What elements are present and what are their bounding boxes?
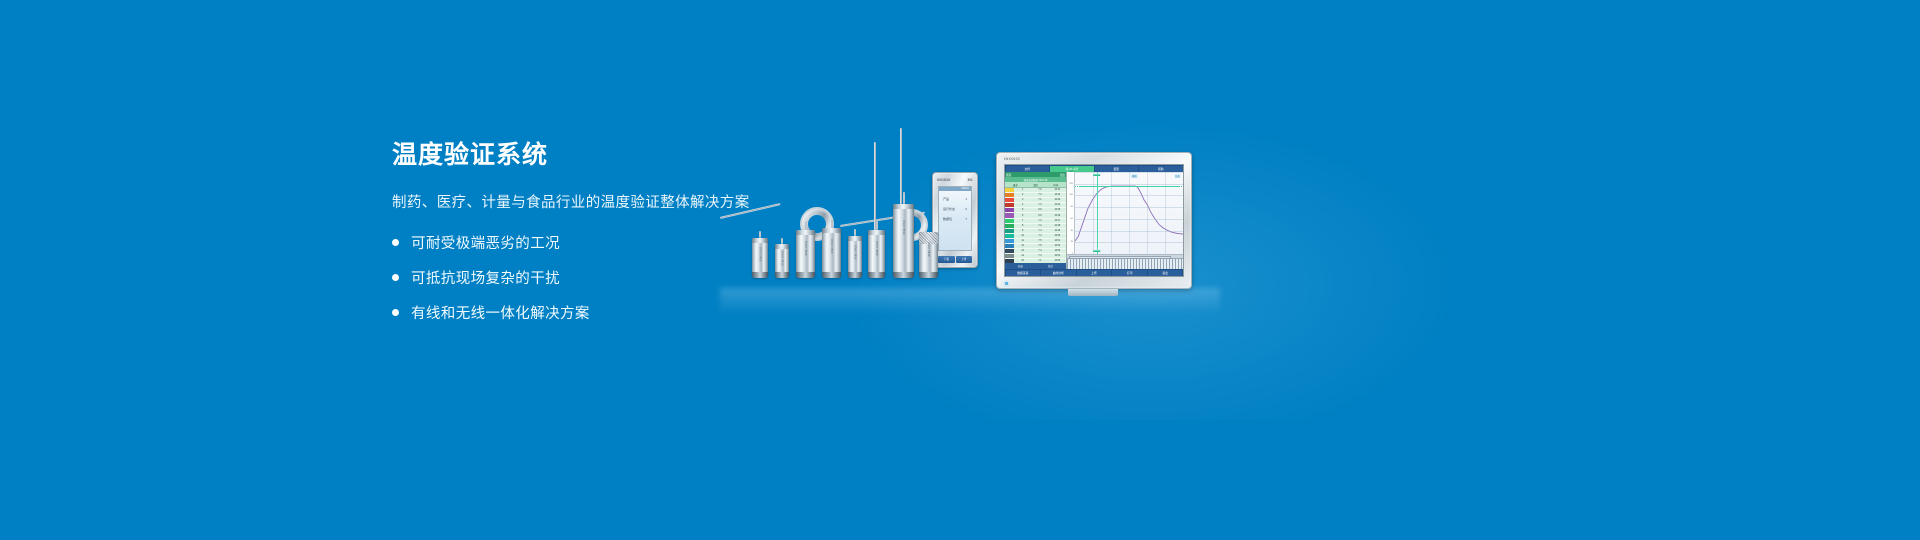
- app-body: 通道 温度 通道温度数据 2021-05 通道温度时间 17.610:4127.…: [1005, 172, 1183, 269]
- cell-channel: 7: [1014, 220, 1031, 222]
- series-color-swatch: [1005, 188, 1014, 192]
- feature-bullet-label: 有线和无线一体化解决方案: [411, 302, 590, 323]
- y-axis-tick-label: 20: [1071, 241, 1073, 243]
- monitor-screen: 文件线-01-A列报警帮助 通道 温度 通道温度数据 2021-05 通道温度时…: [1004, 164, 1184, 277]
- logger-label: ONIX 0806: [759, 247, 762, 262]
- data-logger-2: ONIX 0812: [775, 238, 789, 278]
- cell-channel: 9: [1014, 230, 1031, 232]
- limit-line-handle[interactable]: [1076, 185, 1079, 188]
- cell-value: 7.2: [1031, 220, 1048, 222]
- cell-value: 7.4: [1031, 230, 1048, 232]
- chart-horizontal-scrollbar[interactable]: [1067, 254, 1183, 258]
- cell-value: 7.3: [1031, 255, 1048, 257]
- cell-time: 10:41: [1049, 189, 1066, 191]
- data-column-header: 温度: [1025, 182, 1045, 187]
- cell-channel: 12: [1014, 245, 1031, 247]
- cell-value: 7.2: [1031, 225, 1048, 227]
- logger-cap: [752, 238, 768, 243]
- series-color-swatch: [1005, 193, 1014, 197]
- data-logger-4: ONIX 0824: [822, 219, 841, 278]
- feature-bullet-label: 可耐受极端恶劣的工况: [411, 232, 560, 253]
- cell-time: 10:49: [1049, 230, 1066, 232]
- cursor-line[interactable]: [1097, 172, 1098, 254]
- cell-time: 10:45: [1049, 209, 1066, 211]
- series-color-swatch: [1005, 213, 1014, 217]
- cell-value: 7.1: [1031, 199, 1048, 201]
- cell-time: 10:42: [1049, 194, 1066, 196]
- logger-label: ONIX 0830: [854, 245, 857, 260]
- series-color-swatch: [1005, 244, 1014, 248]
- app-top-toolbar[interactable]: 文件线-01-A列报警帮助: [1005, 165, 1183, 172]
- logger-body: ONIX 0842: [893, 204, 914, 278]
- data-logger-1: ONIX 0806: [752, 231, 768, 278]
- series-color-swatch: [1005, 249, 1014, 253]
- logger-base: [796, 272, 815, 278]
- logger-probe-stub: [759, 231, 761, 238]
- floor-reflection: [720, 288, 1220, 314]
- handheld-brand-row: INONIX M1: [937, 178, 973, 182]
- chart-plot-area[interactable]: 0.0000.000峰值结束: [1075, 172, 1183, 254]
- feature-bullet-label: 可抵抗现场复杂的干扰: [411, 267, 560, 288]
- bullet-dot-icon: [392, 239, 399, 246]
- cell-channel: 4: [1014, 204, 1031, 206]
- handheld-terminal[interactable]: INONIX M1 MENU 产品1运行状态0数据包7 下载上传: [932, 172, 978, 268]
- logger-body: ONIX 0836: [868, 230, 885, 278]
- hero-banner: 温度验证系统 制药、医疗、计量与食品行业的温度验证整体解决方案 可耐受极端恶劣的…: [0, 0, 1920, 540]
- handheld-row-label: 产品: [943, 197, 949, 201]
- cell-time: 10:51: [1049, 240, 1066, 242]
- handheld-row-label: 运行状态: [943, 207, 955, 211]
- data-column-header: 通道: [1005, 182, 1025, 187]
- cell-channel: 5: [1014, 209, 1031, 211]
- bottom-toolbar-button[interactable]: 上传: [1077, 270, 1112, 276]
- cell-value: 7.1: [1031, 260, 1048, 262]
- logger-label: ONIX 0818: [804, 241, 807, 256]
- cell-time: 10:54: [1049, 255, 1066, 257]
- logger-body: ONIX 0848: [919, 232, 938, 278]
- handheld-row-label: 数据包: [943, 217, 952, 221]
- handheld-model-label: M1: [968, 178, 973, 182]
- logger-label: ONIX 0824: [830, 239, 833, 254]
- toolbar-button[interactable]: 帮助: [1139, 166, 1183, 172]
- logger-base: [893, 272, 914, 278]
- probe-wire-1: [720, 203, 781, 218]
- data-table-rows[interactable]: 17.610:4127.310:4237.110:4347.010:4456.9…: [1005, 188, 1066, 263]
- y-axis-tick-label: 140: [1069, 171, 1073, 173]
- cell-value: 7.0: [1031, 204, 1048, 206]
- logger-base: [752, 272, 768, 278]
- series-color-swatch: [1005, 208, 1014, 212]
- monitor-brand-label: INONIX: [1004, 156, 1020, 161]
- cell-time: 10:48: [1049, 225, 1066, 227]
- cell-value: 7.5: [1031, 245, 1048, 247]
- handheld-key-button[interactable]: 上传: [956, 256, 973, 263]
- bottom-toolbar-button[interactable]: 打印: [1112, 270, 1147, 276]
- cell-channel: 11: [1014, 240, 1031, 242]
- series-color-swatch: [1005, 198, 1014, 202]
- data-logger-5: ONIX 0830: [848, 229, 862, 278]
- handheld-status-row: 数据包7: [939, 217, 971, 221]
- y-axis-tick-label: 120: [1069, 183, 1073, 185]
- logger-label: ONIX 0842: [902, 220, 905, 235]
- cell-value: 6.9: [1031, 209, 1048, 211]
- chart-marker-tag: 0.000: [1093, 174, 1100, 176]
- chart-y-axis: 020406080100120140: [1067, 172, 1075, 254]
- chart-marker-tag: 峰值: [1131, 174, 1137, 178]
- logger-body: ONIX 0824: [822, 228, 841, 278]
- data-logger-3: ONIX 0818: [796, 221, 815, 278]
- series-color-swatch: [1005, 229, 1014, 233]
- cell-channel: 10: [1014, 235, 1031, 237]
- handheld-screen: MENU 产品1运行状态0数据包7: [938, 186, 972, 251]
- logger-probe-stub: [876, 221, 878, 230]
- logger-base: [775, 272, 789, 278]
- chart-time-ruler: [1067, 258, 1183, 269]
- series-color-swatch: [1005, 239, 1014, 243]
- cell-time: 10:43: [1049, 199, 1066, 201]
- cell-value: 7.4: [1031, 235, 1048, 237]
- cell-value: 7.3: [1031, 250, 1048, 252]
- cell-channel: 15: [1014, 260, 1031, 262]
- series-color-swatch: [1005, 254, 1014, 258]
- logger-cap: [893, 204, 914, 209]
- logger-body: ONIX 0818: [796, 230, 815, 278]
- series-color-swatch: [1005, 203, 1014, 207]
- data-panel-head-right: 温度: [1060, 173, 1065, 177]
- logger-probe-stub: [854, 229, 856, 236]
- cell-time: 10:46: [1049, 215, 1066, 217]
- data-logger-7: ONIX 0842: [893, 192, 914, 278]
- logger-body: ONIX 0812: [775, 244, 789, 278]
- handheld-brand-label: INONIX: [937, 178, 951, 182]
- chart-marker-tag: 结束: [1174, 174, 1180, 178]
- logger-base: [822, 272, 841, 278]
- cell-value: 6.9: [1031, 215, 1048, 217]
- data-column-header: 时间: [1046, 182, 1066, 187]
- handheld-status-row: 运行状态0: [939, 207, 971, 211]
- y-axis-tick-label: 40: [1071, 230, 1073, 232]
- cell-time: 10:52: [1049, 245, 1066, 247]
- chart-area: 020406080100120140 0.0000.000峰值结束: [1067, 172, 1183, 254]
- bullet-dot-icon: [392, 309, 399, 316]
- logger-body: ONIX 0830: [848, 236, 862, 278]
- series-color-swatch: [1005, 219, 1014, 223]
- pc-monitor: INONIX 文件线-01-A列报警帮助 通道 温度 通道温度数据 2021-0…: [996, 152, 1192, 289]
- cell-channel: 3: [1014, 199, 1031, 201]
- logger-base: [848, 272, 862, 278]
- series-color-swatch: [1005, 224, 1014, 228]
- cell-channel: 14: [1014, 255, 1031, 257]
- y-axis-tick-label: 80: [1071, 206, 1073, 208]
- channel-data-panel: 通道 温度 通道温度数据 2021-05 通道温度时间 17.610:4127.…: [1005, 172, 1067, 269]
- logger-label: ONIX 0836: [875, 241, 878, 256]
- logger-base: [868, 272, 885, 278]
- logger-label: ONIX 0812: [781, 251, 784, 266]
- cell-time: 10:50: [1049, 235, 1066, 237]
- handheld-row-value: 7: [965, 217, 967, 221]
- handheld-row-value: 1: [965, 197, 967, 201]
- series-color-swatch: [1005, 234, 1014, 238]
- cell-value: 7.5: [1031, 240, 1048, 242]
- scrollbar-thumb[interactable]: [1069, 256, 1171, 259]
- logger-probe-stub: [805, 221, 807, 230]
- handheld-screen-title: MENU: [939, 187, 971, 191]
- logger-cap: [796, 230, 815, 235]
- handheld-key-row[interactable]: 下载上传: [938, 256, 972, 263]
- cell-time: 10:55: [1049, 260, 1066, 262]
- data-logger-6: ONIX 0836: [868, 221, 885, 278]
- handheld-status-rows: 产品1运行状态0数据包7: [939, 197, 971, 221]
- logger-cap: [868, 230, 885, 235]
- bottom-toolbar-button[interactable]: 退出: [1148, 270, 1183, 276]
- cell-time: 10:44: [1049, 204, 1066, 206]
- logger-probe-stub: [903, 192, 905, 204]
- cell-channel: 6: [1014, 215, 1031, 217]
- logger-cap: [822, 228, 841, 233]
- data-logger-8: ONIX 0848: [919, 232, 938, 278]
- logger-probe-stub: [831, 219, 833, 228]
- cell-channel: 13: [1014, 250, 1031, 252]
- power-led-icon: [1005, 282, 1008, 285]
- y-axis-tick-label: 60: [1071, 218, 1073, 220]
- limit-line: [1075, 186, 1183, 187]
- cell-value: 7.3: [1031, 194, 1048, 196]
- limit-line-handle[interactable]: [1180, 185, 1183, 188]
- logger-base: [919, 272, 938, 278]
- handheld-key-button[interactable]: 下载: [938, 256, 955, 263]
- data-panel-head-left: 通道: [1006, 173, 1011, 177]
- bottom-toolbar-button[interactable]: 数据采集: [1006, 270, 1041, 276]
- cell-channel: 8: [1014, 225, 1031, 227]
- logger-cap: [775, 244, 789, 249]
- bullet-dot-icon: [392, 274, 399, 281]
- handheld-row-value: 0: [965, 207, 967, 211]
- chart-panel: 020406080100120140 0.0000.000峰值结束: [1067, 172, 1183, 269]
- toolbar-button[interactable]: 报警: [1095, 166, 1139, 172]
- logger-cap: [848, 236, 862, 241]
- cell-value: 7.6: [1031, 189, 1048, 191]
- cell-time: 10:47: [1049, 220, 1066, 222]
- y-axis-tick-label: 100: [1069, 194, 1073, 196]
- logger-label: ONIX 0848: [927, 242, 930, 257]
- app-bottom-toolbar[interactable]: 数据采集曲线分析上传打印退出: [1005, 269, 1183, 276]
- cell-channel: 2: [1014, 194, 1031, 196]
- chart-marker-tag: 0.000: [1093, 250, 1100, 252]
- cell-time: 10:53: [1049, 250, 1066, 252]
- cell-channel: 1: [1014, 189, 1031, 191]
- toolbar-button[interactable]: 文件: [1006, 166, 1050, 172]
- bottom-toolbar-button[interactable]: 曲线分析: [1041, 270, 1076, 276]
- logger-body: ONIX 0806: [752, 238, 768, 278]
- handheld-status-row: 产品1: [939, 197, 971, 201]
